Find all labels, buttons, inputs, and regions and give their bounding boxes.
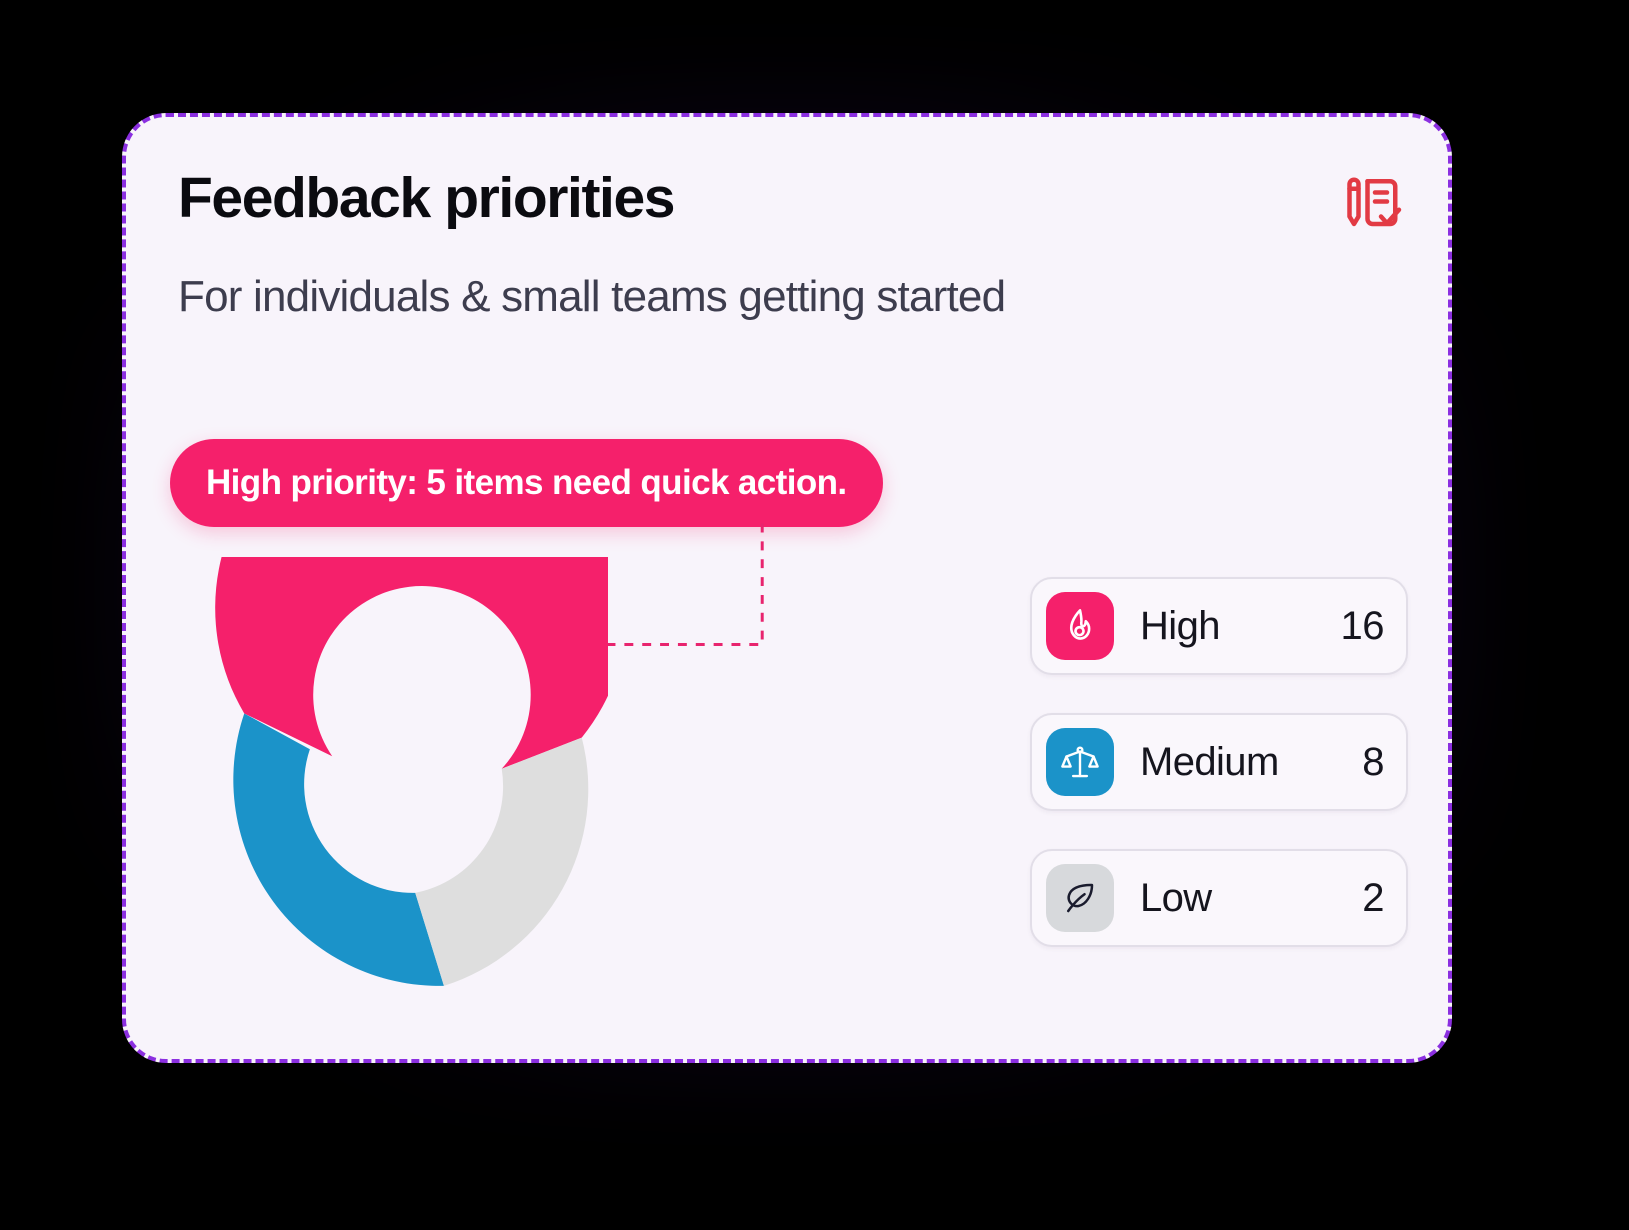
legend-label-low: Low — [1140, 876, 1212, 921]
legend-value-high: 16 — [1341, 604, 1385, 649]
feedback-form-check-icon — [1336, 167, 1408, 239]
legend-row-low[interactable]: Low 2 — [1030, 849, 1408, 947]
legend-label-high: High — [1140, 604, 1220, 649]
donut-slice-medium — [233, 713, 444, 985]
legend-label-medium: Medium — [1140, 740, 1279, 785]
scales-icon — [1060, 742, 1100, 782]
donut-slice-low — [415, 738, 588, 986]
flame-icon-chip — [1046, 592, 1114, 660]
leaf-icon-chip — [1046, 864, 1114, 932]
page-title: Feedback priorities — [178, 165, 674, 231]
banner-label: High priority: 5 items need quick action… — [206, 463, 847, 503]
legend-value-medium: 8 — [1362, 740, 1384, 785]
feedback-priorities-card: Feedback priorities For individuals & sm… — [122, 113, 1452, 1063]
scales-icon-chip — [1046, 728, 1114, 796]
priority-legend: High 16 Medium 8 — [1030, 577, 1408, 947]
high-priority-banner[interactable]: High priority: 5 items need quick action… — [170, 439, 883, 527]
priority-donut-chart — [158, 557, 608, 1027]
legend-row-medium[interactable]: Medium 8 — [1030, 713, 1408, 811]
legend-value-low: 2 — [1362, 876, 1384, 921]
legend-row-high[interactable]: High 16 — [1030, 577, 1408, 675]
page-subtitle: For individuals & small teams getting st… — [178, 272, 1005, 322]
flame-icon — [1060, 606, 1100, 646]
leaf-icon — [1060, 878, 1100, 918]
